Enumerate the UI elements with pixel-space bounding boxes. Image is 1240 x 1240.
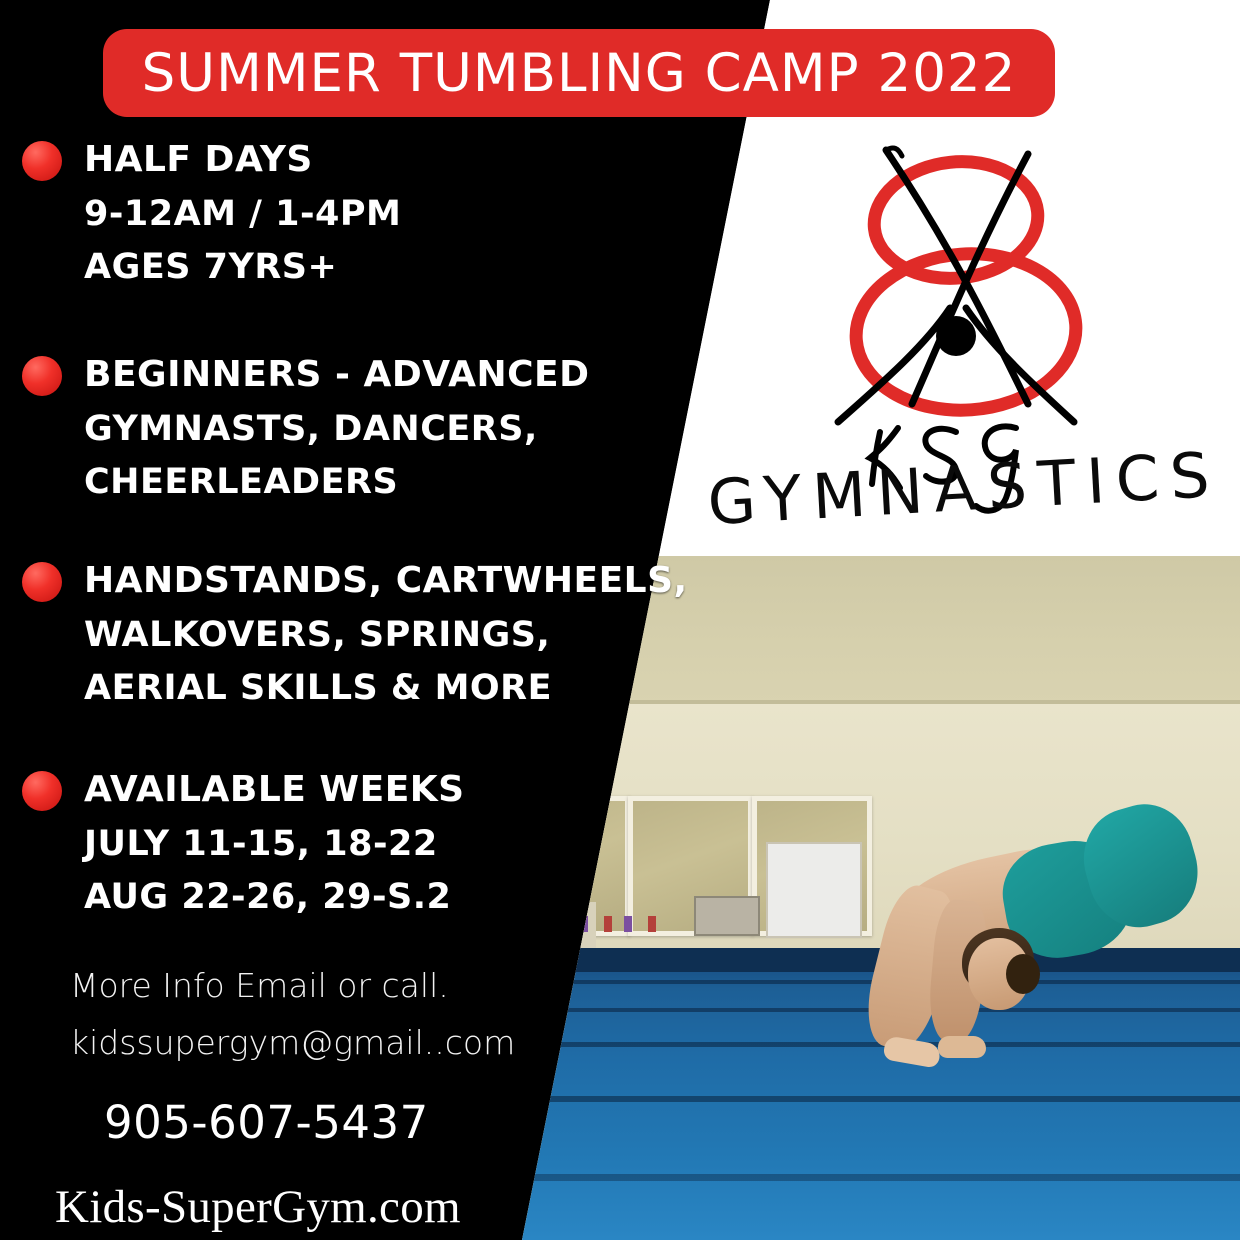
bullet-skills: HANDSTANDS, CARTWHEELS, WALKOVERS, SPRIN… <box>22 554 622 715</box>
bullet-lines: AVAILABLE WEEKS JULY 11-15, 18-22 AUG 22… <box>84 763 622 924</box>
bullet-line: AERIAL SKILLS & MORE <box>84 662 622 715</box>
flyer-root: GYMNASTICS EXIT Ma <box>0 0 1240 1240</box>
figure-head-dot <box>936 316 976 356</box>
bullet-line: JULY 11-15, 18-22 <box>84 818 622 871</box>
bullet-line: AGES 7YRS+ <box>84 241 622 294</box>
bullet-line: HALF DAYS <box>84 133 622 188</box>
bullet-dot-icon <box>22 141 62 181</box>
bullet-lines: HANDSTANDS, CARTWHEELS, WALKOVERS, SPRIN… <box>84 554 622 715</box>
microwave <box>694 896 760 936</box>
bullet-line: AUG 22-26, 29-S.2 <box>84 871 622 924</box>
bullet-levels: BEGINNERS - ADVANCED GYMNASTS, DANCERS, … <box>22 348 622 509</box>
bullet-half-days: HALF DAYS 9-12AM / 1-4PM AGES 7YRS+ <box>22 133 622 294</box>
bullet-line: AVAILABLE WEEKS <box>84 763 622 818</box>
left-content: HALF DAYS 9-12AM / 1-4PM AGES 7YRS+ BEGI… <box>0 118 640 1240</box>
bullet-line: WALKOVERS, SPRINGS, <box>84 609 622 662</box>
bullet-line: HANDSTANDS, CARTWHEELS, <box>84 554 622 609</box>
refrigerator <box>766 842 862 938</box>
bullet-line: GYMNASTS, DANCERS, <box>84 403 622 456</box>
bullet-lines: HALF DAYS 9-12AM / 1-4PM AGES 7YRS+ <box>84 133 622 294</box>
bullet-lines: BEGINNERS - ADVANCED GYMNASTS, DANCERS, … <box>84 348 622 509</box>
bullet-dot-icon <box>22 562 62 602</box>
contact-website[interactable]: Kids-SuperGym.com <box>55 1180 461 1234</box>
contact-email[interactable]: kidssupergym@gmail..com <box>70 1015 630 1072</box>
bullet-line: CHEERLEADERS <box>84 456 622 509</box>
bullet-dot-icon <box>22 356 62 396</box>
bullet-dot-icon <box>22 771 62 811</box>
banner-title: SUMMER TUMBLING CAMP 2022 <box>142 43 1017 104</box>
contact-block: More Info Email or call. kidssupergym@gm… <box>70 958 630 1072</box>
bullet-available-weeks: AVAILABLE WEEKS JULY 11-15, 18-22 AUG 22… <box>22 763 622 924</box>
bullet-line: BEGINNERS - ADVANCED <box>84 348 622 403</box>
header-banner: SUMMER TUMBLING CAMP 2022 <box>103 29 1055 117</box>
bullet-line: 9-12AM / 1-4PM <box>84 188 622 241</box>
contact-phone[interactable]: 905-607-5437 <box>104 1096 429 1149</box>
contact-prompt: More Info Email or call. <box>70 958 630 1015</box>
